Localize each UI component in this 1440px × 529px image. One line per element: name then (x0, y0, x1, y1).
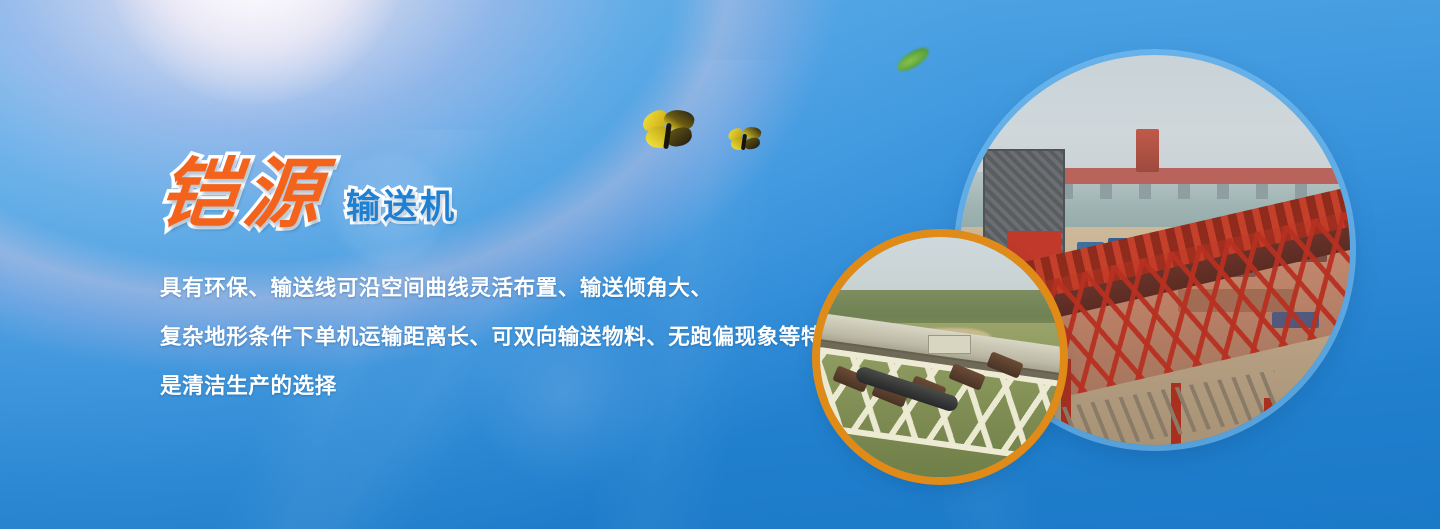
sun-flare-halo (105, 0, 405, 105)
truss-conveyor-illustration (820, 237, 1060, 477)
pier-bridge (1030, 168, 1350, 184)
pier-leg (1217, 184, 1229, 200)
brand-product-name: 输送机 (346, 190, 457, 232)
hero-banner: 铠源 输送机 具有环保、输送线可沿空间曲线灵活布置、输送倾角大、 复杂地形条件下… (0, 0, 1440, 529)
pier-leg (1139, 184, 1151, 200)
equipment-nameplate (928, 335, 971, 354)
description-line-2: 复杂地形条件下单机运输距离长、可双向输送物料、无跑偏现象等特点， (160, 313, 800, 362)
pier-leg (1178, 184, 1190, 200)
description-block: 具有环保、输送线可沿空间曲线灵活布置、输送倾角大、 复杂地形条件下单机运输距离长… (160, 264, 800, 411)
ship-loader-crane (1136, 129, 1159, 172)
brand-name: 铠源 (156, 156, 332, 232)
butterfly-small (728, 126, 762, 152)
description-line-3: 是清洁生产的选择 (160, 362, 800, 411)
headline-block: 铠源 输送机 具有环保、输送线可沿空间曲线灵活布置、输送倾角大、 复杂地形条件下… (160, 140, 800, 411)
green-leaf-icon (894, 44, 933, 74)
pier-leg (1256, 184, 1268, 200)
butterfly-large (640, 110, 698, 156)
pier-leg (1100, 184, 1112, 200)
brand-row: 铠源 输送机 (160, 140, 800, 232)
photo-circle-truss-conveyor (820, 237, 1060, 477)
description-line-1: 具有环保、输送线可沿空间曲线灵活布置、输送倾角大、 (160, 264, 800, 313)
